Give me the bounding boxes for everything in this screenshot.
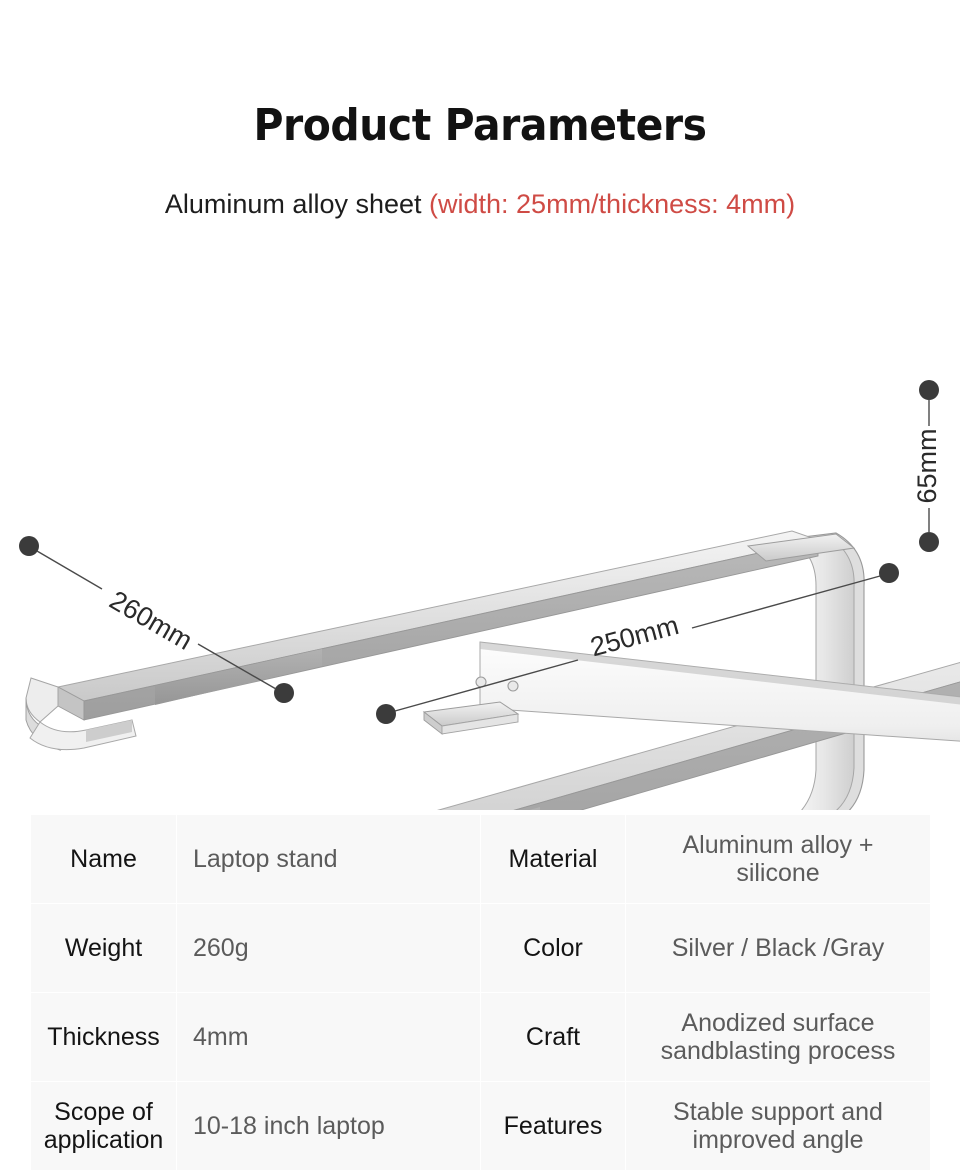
spec-label-name: Name: [31, 815, 177, 904]
rear-left-foot: [424, 702, 518, 734]
table-row: Name Laptop stand Material Aluminum allo…: [31, 815, 931, 904]
spec-label-scope-line1: Scope of: [37, 1098, 170, 1127]
table-row: Weight 260g Color Silver / Black /Gray: [31, 904, 931, 993]
dimension-endpoint-dot: [879, 563, 899, 583]
spec-label-scope: Scope of application: [31, 1082, 177, 1171]
dimension-label-250mm: 250mm: [587, 610, 682, 662]
spec-value-color: Silver / Black /Gray: [626, 904, 931, 993]
spec-label-craft: Craft: [481, 993, 626, 1082]
spec-label-scope-line2: application: [37, 1126, 170, 1155]
spec-value-scope: 10-18 inch laptop: [177, 1082, 481, 1171]
spec-value-features: Stable support and improved angle: [626, 1082, 931, 1171]
page-subtitle: Aluminum alloy sheet (width: 25mm/thickn…: [0, 189, 960, 220]
spec-value-craft-line1: Anodized surface: [632, 1009, 924, 1038]
spec-label-features: Features: [481, 1082, 626, 1171]
product-illustration: 260mm 250mm 65mm: [0, 250, 960, 810]
spec-value-weight: 260g: [177, 904, 481, 993]
spec-value-craft-line2: sandblasting process: [632, 1037, 924, 1066]
dimension-65mm: 65mm: [912, 380, 942, 552]
page-title: Product Parameters: [34, 100, 927, 151]
spec-value-material: Aluminum alloy + silicone: [626, 815, 931, 904]
subtitle-accent-text: (width: 25mm/thickness: 4mm): [429, 189, 795, 219]
spec-label-material: Material: [481, 815, 626, 904]
spec-value-features-line1: Stable support and: [632, 1098, 924, 1127]
table-row: Scope of application 10-18 inch laptop F…: [31, 1082, 931, 1171]
spec-value-thickness: 4mm: [177, 993, 481, 1082]
dimension-label-65mm: 65mm: [912, 428, 942, 503]
dimension-endpoint-dot: [274, 683, 294, 703]
table-row: Thickness 4mm Craft Anodized surface san…: [31, 993, 931, 1082]
spec-value-features-line2: improved angle: [632, 1126, 924, 1155]
dimension-endpoint-dot: [376, 704, 396, 724]
spec-label-thickness: Thickness: [31, 993, 177, 1082]
dimension-endpoint-dot: [919, 532, 939, 552]
dimension-label-260mm: 260mm: [104, 585, 197, 656]
spec-label-weight: Weight: [31, 904, 177, 993]
spec-value-name: Laptop stand: [177, 815, 481, 904]
dimension-endpoint-dot: [919, 380, 939, 400]
spec-value-material-line1: Aluminum alloy +: [632, 831, 924, 860]
spec-value-craft: Anodized surface sandblasting process: [626, 993, 931, 1082]
spec-table: Name Laptop stand Material Aluminum allo…: [30, 814, 931, 1171]
stand-body: [26, 531, 960, 810]
dimension-endpoint-dot: [19, 536, 39, 556]
spec-label-color: Color: [481, 904, 626, 993]
spec-value-material-line2: silicone: [632, 859, 924, 888]
subtitle-plain-text: Aluminum alloy sheet: [165, 189, 429, 219]
